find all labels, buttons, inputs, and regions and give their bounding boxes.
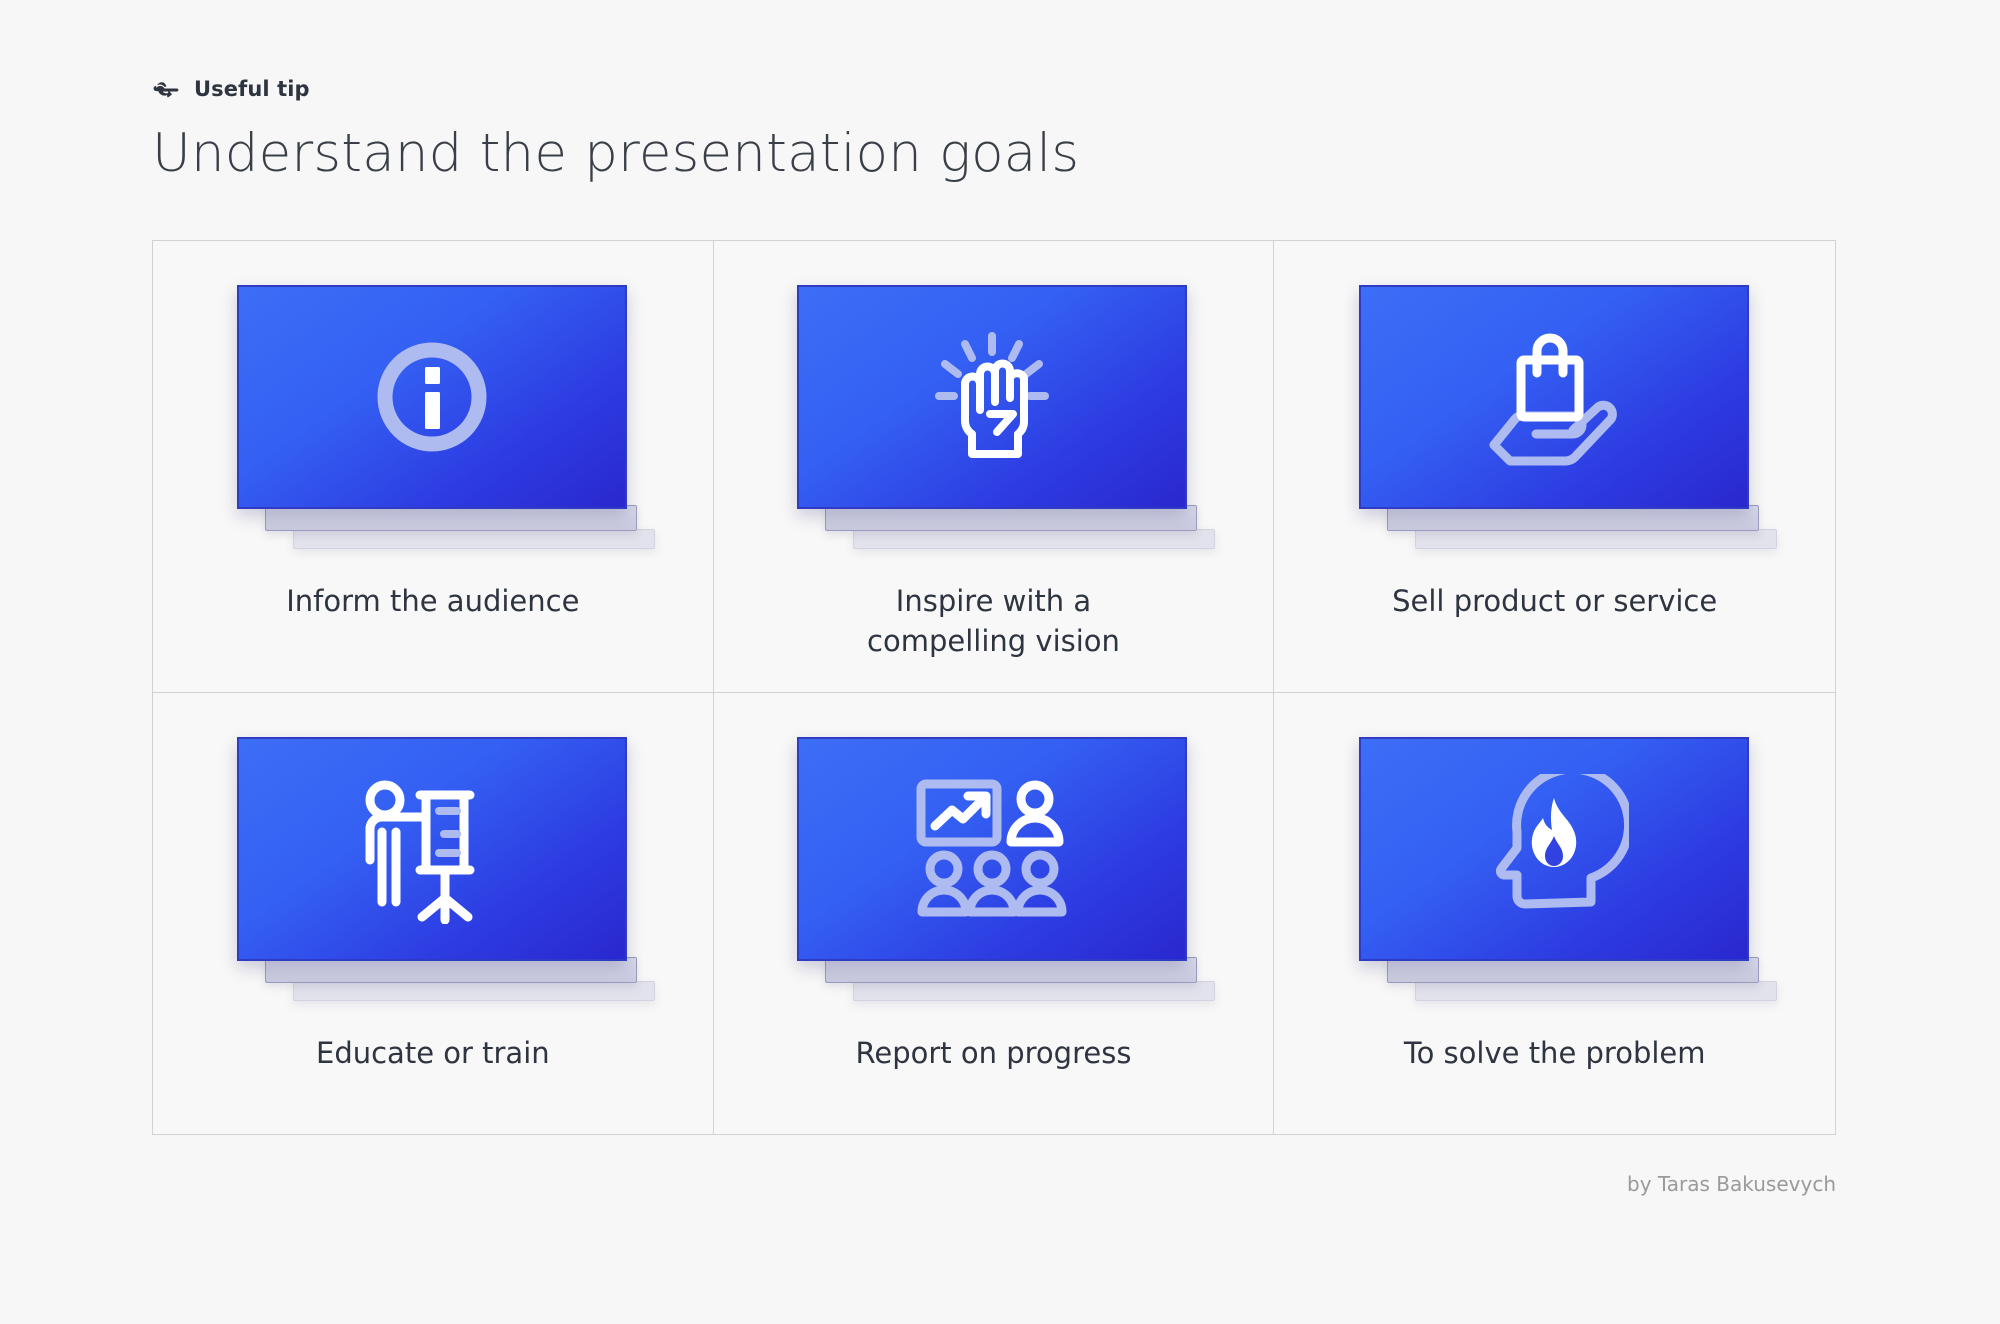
monitor-screen: [237, 737, 627, 961]
monitor-illustration: [1359, 285, 1751, 547]
goal-card-inform-the-audience[interactable]: Inform the audience: [153, 241, 714, 693]
page-title: Understand the presentation goals: [152, 124, 1852, 185]
goal-card-report-on-progress[interactable]: Report on progress: [714, 693, 1275, 1134]
presenter-easel-icon: [352, 774, 512, 924]
monitor-shelf-back: [853, 981, 1215, 1001]
header: Useful tip Understand the presentation g…: [152, 72, 1852, 185]
goal-card-to-solve-the-problem[interactable]: To solve the problem: [1274, 693, 1835, 1134]
goal-card-label: Inform the audience: [286, 581, 579, 621]
monitor-shelf-back: [293, 981, 655, 1001]
goal-card-inspire-with-a-compelling-vision[interactable]: Inspire with a compelling vision: [714, 241, 1275, 693]
goal-card-label: Inspire with a compelling vision: [867, 581, 1120, 661]
author-credit: by Taras Bakusevych: [1627, 1172, 1836, 1196]
tip-row: Useful tip: [152, 72, 1852, 106]
head-flame-icon: [1479, 774, 1629, 924]
slide-root: Useful tip Understand the presentation g…: [0, 0, 2000, 1324]
monitor-screen: [1359, 737, 1749, 961]
monitor-screen: [797, 285, 1187, 509]
goal-card-label: Educate or train: [316, 1033, 550, 1073]
monitor-illustration: [797, 285, 1189, 547]
chart-audience-icon: [907, 774, 1077, 924]
monitor-screen: [1359, 285, 1749, 509]
bag-on-hand-icon: [1474, 327, 1634, 467]
goal-card-label: To solve the problem: [1404, 1033, 1706, 1073]
goal-card-label: Sell product or service: [1392, 581, 1717, 621]
monitor-screen: [237, 285, 627, 509]
monitor-shelf-back: [1415, 529, 1777, 549]
tip-label: Useful tip: [194, 77, 310, 101]
monitor-shelf-back: [1415, 981, 1777, 1001]
monitor-shelf-back: [853, 529, 1215, 549]
goal-card-educate-or-train[interactable]: Educate or train: [153, 693, 714, 1134]
monitor-illustration: [237, 737, 629, 999]
monitor-illustration: [797, 737, 1189, 999]
info-circle-icon: [372, 337, 492, 457]
monitor-shelf-back: [293, 529, 655, 549]
goal-card-label: Report on progress: [856, 1033, 1132, 1073]
goals-grid: Inform the audience: [152, 240, 1836, 1135]
goal-card-sell-product-or-service[interactable]: Sell product or service: [1274, 241, 1835, 693]
monitor-illustration: [1359, 737, 1751, 999]
raised-fist-rays-icon: [917, 322, 1067, 472]
monitor-screen: [797, 737, 1187, 961]
pointing-hand-icon: [152, 76, 182, 102]
monitor-illustration: [237, 285, 629, 547]
